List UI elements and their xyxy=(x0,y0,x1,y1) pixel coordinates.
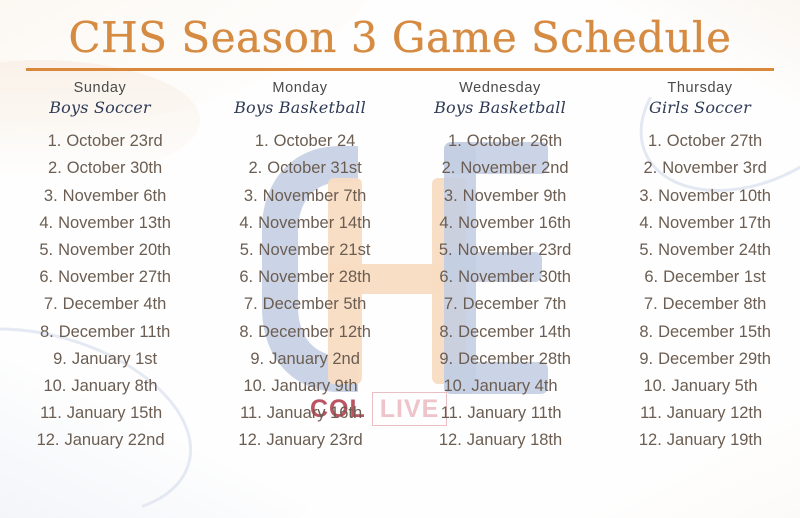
sport-header-thursday: Girls Soccer xyxy=(649,98,751,119)
game-number: 2. xyxy=(238,155,262,182)
game-date: December 4th xyxy=(63,291,167,318)
page-title: CHS Season 3 Game Schedule xyxy=(69,14,732,61)
game-number: 9. xyxy=(240,346,264,373)
game-date: January 1st xyxy=(72,346,157,373)
list-item: 3.November 7th xyxy=(200,183,400,210)
game-date: October 23rd xyxy=(66,128,162,155)
game-number: 10. xyxy=(442,373,466,400)
list-item: 8.December 12th xyxy=(200,319,400,346)
schedule-column-thursday: Thursday Girls Soccer 1.October 27th 2.N… xyxy=(600,80,800,455)
list-item: 7.December 8th xyxy=(600,291,800,318)
list-item: 4.November 16th xyxy=(400,210,600,237)
game-date: October 24 xyxy=(274,128,356,155)
game-date: November 17th xyxy=(658,210,771,237)
game-date: November 30th xyxy=(458,264,571,291)
game-number: 3. xyxy=(34,183,58,210)
game-number: 8. xyxy=(229,319,253,346)
game-number: 4. xyxy=(29,210,53,237)
list-item: 3.November 10th xyxy=(600,183,800,210)
game-number: 6. xyxy=(634,264,658,291)
day-header-sunday: Sunday xyxy=(74,80,127,97)
list-item: 9.January 1st xyxy=(0,346,200,373)
game-number: 2. xyxy=(431,155,455,182)
game-list-monday: 1.October 24 2.October 31st 3.November 7… xyxy=(200,128,400,454)
game-number: 3. xyxy=(234,183,258,210)
game-number: 8. xyxy=(429,319,453,346)
game-number: 3. xyxy=(629,183,653,210)
list-item: 2.November 3rd xyxy=(600,155,800,182)
page-title-wrap: CHS Season 3 Game Schedule xyxy=(0,14,800,61)
list-item: 9.December 28th xyxy=(400,346,600,373)
schedule-columns: Sunday Boys Soccer 1.October 23rd 2.Octo… xyxy=(0,80,800,455)
game-date: December 29th xyxy=(658,346,771,373)
game-number: 5. xyxy=(230,237,254,264)
game-date: December 11th xyxy=(59,319,171,346)
list-item: 6.December 1st xyxy=(600,264,800,291)
list-item: 12.January 18th xyxy=(400,427,600,454)
game-date: November 7th xyxy=(263,183,367,210)
schedule-poster: COL LIVE CHS Season 3 Game Schedule Sund… xyxy=(0,0,800,518)
list-item: 2.October 31st xyxy=(200,155,400,182)
game-date: January 9th xyxy=(271,373,357,400)
game-date: December 28th xyxy=(458,346,571,373)
list-item: 11.January 12th xyxy=(600,400,800,427)
game-date: November 28th xyxy=(258,264,371,291)
game-date: January 15th xyxy=(67,400,162,427)
game-number: 10. xyxy=(242,373,266,400)
game-number: 5. xyxy=(629,237,653,264)
game-number: 1. xyxy=(245,128,269,155)
game-number: 9. xyxy=(629,346,653,373)
list-item: 1.October 23rd xyxy=(0,128,200,155)
list-item: 10.January 8th xyxy=(0,373,200,400)
list-item: 5.November 24th xyxy=(600,237,800,264)
game-number: 11. xyxy=(638,400,662,427)
game-date: January 4th xyxy=(471,373,557,400)
game-date: November 20th xyxy=(58,237,171,264)
game-date: January 16th xyxy=(267,400,362,427)
schedule-column-wednesday: Wednesday Boys Basketball 1.October 26th… xyxy=(400,80,600,455)
title-underline-rule xyxy=(26,68,774,71)
list-item: 1.October 26th xyxy=(400,128,600,155)
game-number: 6. xyxy=(229,264,253,291)
list-item: 7.December 7th xyxy=(400,291,600,318)
game-list-wednesday: 1.October 26th 2.November 2nd 3.November… xyxy=(400,128,600,454)
list-item: 9.December 29th xyxy=(600,346,800,373)
list-item: 4.November 13th xyxy=(0,210,200,237)
game-number: 7. xyxy=(34,291,58,318)
game-number: 3. xyxy=(434,183,458,210)
list-item: 1.October 27th xyxy=(600,128,800,155)
game-date: December 12th xyxy=(258,319,371,346)
game-number: 6. xyxy=(29,264,53,291)
list-item: 10.January 9th xyxy=(200,373,400,400)
game-date: January 5th xyxy=(671,373,757,400)
game-date: November 27th xyxy=(58,264,171,291)
list-item: 4.November 14th xyxy=(200,210,400,237)
game-date: January 2nd xyxy=(269,346,360,373)
list-item: 1.October 24 xyxy=(200,128,400,155)
game-date: October 31st xyxy=(267,155,361,182)
list-item: 6.November 30th xyxy=(400,264,600,291)
day-header-monday: Monday xyxy=(272,80,327,97)
sport-header-sunday: Boys Soccer xyxy=(49,98,151,119)
game-date: November 6th xyxy=(63,183,167,210)
game-date: December 7th xyxy=(463,291,567,318)
list-item: 5.November 21st xyxy=(200,237,400,264)
schedule-column-monday: Monday Boys Basketball 1.October 24 2.Oc… xyxy=(200,80,400,455)
game-number: 1. xyxy=(638,128,662,155)
game-number: 2. xyxy=(38,155,62,182)
game-date: January 22nd xyxy=(65,427,165,454)
game-number: 5. xyxy=(429,237,453,264)
game-date: January 23rd xyxy=(266,427,362,454)
list-item: 4.November 17th xyxy=(600,210,800,237)
game-number: 11. xyxy=(238,400,262,427)
game-number: 10. xyxy=(642,373,666,400)
day-header-thursday: Thursday xyxy=(667,80,732,97)
game-number: 8. xyxy=(629,319,653,346)
game-number: 11. xyxy=(38,400,62,427)
game-date: November 10th xyxy=(658,183,771,210)
game-number: 7. xyxy=(634,291,658,318)
game-number: 7. xyxy=(234,291,258,318)
game-date: January 19th xyxy=(667,427,762,454)
game-date: January 12th xyxy=(667,400,762,427)
game-date: October 26th xyxy=(467,128,562,155)
list-item: 8.December 11th xyxy=(0,319,200,346)
list-item: 11.January 11th xyxy=(400,400,600,427)
game-date: October 27th xyxy=(667,128,762,155)
list-item: 11.January 16th xyxy=(200,400,400,427)
game-date: December 14th xyxy=(458,319,571,346)
game-date: November 14th xyxy=(258,210,371,237)
game-list-sunday: 1.October 23rd 2.October 30th 3.November… xyxy=(0,128,200,454)
list-item: 3.November 6th xyxy=(0,183,200,210)
list-item: 7.December 4th xyxy=(0,291,200,318)
game-date: November 9th xyxy=(463,183,567,210)
game-number: 4. xyxy=(629,210,653,237)
game-date: December 15th xyxy=(658,319,771,346)
list-item: 6.November 27th xyxy=(0,264,200,291)
game-list-thursday: 1.October 27th 2.November 3rd 3.November… xyxy=(600,128,800,454)
game-number: 12. xyxy=(638,427,662,454)
game-number: 11. xyxy=(438,400,462,427)
game-date: November 23rd xyxy=(458,237,572,264)
list-item: 5.November 23rd xyxy=(400,237,600,264)
list-item: 3.November 9th xyxy=(400,183,600,210)
game-number: 5. xyxy=(29,237,53,264)
game-number: 10. xyxy=(42,373,66,400)
game-number: 8. xyxy=(30,319,54,346)
game-number: 4. xyxy=(229,210,253,237)
game-date: December 5th xyxy=(263,291,367,318)
game-date: November 2nd xyxy=(460,155,568,182)
schedule-column-sunday: Sunday Boys Soccer 1.October 23rd 2.Octo… xyxy=(0,80,200,455)
game-date: November 16th xyxy=(458,210,571,237)
game-date: January 11th xyxy=(467,400,561,427)
game-date: November 13th xyxy=(58,210,171,237)
game-date: January 18th xyxy=(467,427,562,454)
game-number: 1. xyxy=(438,128,462,155)
game-number: 9. xyxy=(43,346,67,373)
list-item: 12.January 23rd xyxy=(200,427,400,454)
game-number: 12. xyxy=(36,427,60,454)
day-header-wednesday: Wednesday xyxy=(459,80,541,97)
list-item: 2.October 30th xyxy=(0,155,200,182)
list-item: 2.November 2nd xyxy=(400,155,600,182)
list-item: 12.January 22nd xyxy=(0,427,200,454)
game-date: January 8th xyxy=(71,373,157,400)
list-item: 8.December 14th xyxy=(400,319,600,346)
game-date: October 30th xyxy=(67,155,162,182)
game-number: 1. xyxy=(37,128,61,155)
list-item: 6.November 28th xyxy=(200,264,400,291)
list-item: 11.January 15th xyxy=(0,400,200,427)
sport-header-wednesday: Boys Basketball xyxy=(434,98,566,119)
list-item: 7.December 5th xyxy=(200,291,400,318)
game-number: 12. xyxy=(438,427,462,454)
list-item: 9.January 2nd xyxy=(200,346,400,373)
game-date: December 8th xyxy=(663,291,767,318)
game-number: 2. xyxy=(633,155,657,182)
game-number: 6. xyxy=(429,264,453,291)
list-item: 8.December 15th xyxy=(600,319,800,346)
game-date: December 1st xyxy=(663,264,766,291)
game-date: November 24th xyxy=(658,237,771,264)
game-number: 7. xyxy=(434,291,458,318)
sport-header-monday: Boys Basketball xyxy=(234,98,366,119)
game-number: 4. xyxy=(429,210,453,237)
game-number: 12. xyxy=(237,427,261,454)
game-date: November 21st xyxy=(259,237,371,264)
game-number: 9. xyxy=(429,346,453,373)
list-item: 5.November 20th xyxy=(0,237,200,264)
game-date: November 3rd xyxy=(662,155,767,182)
list-item: 10.January 4th xyxy=(400,373,600,400)
list-item: 12.January 19th xyxy=(600,427,800,454)
list-item: 10.January 5th xyxy=(600,373,800,400)
